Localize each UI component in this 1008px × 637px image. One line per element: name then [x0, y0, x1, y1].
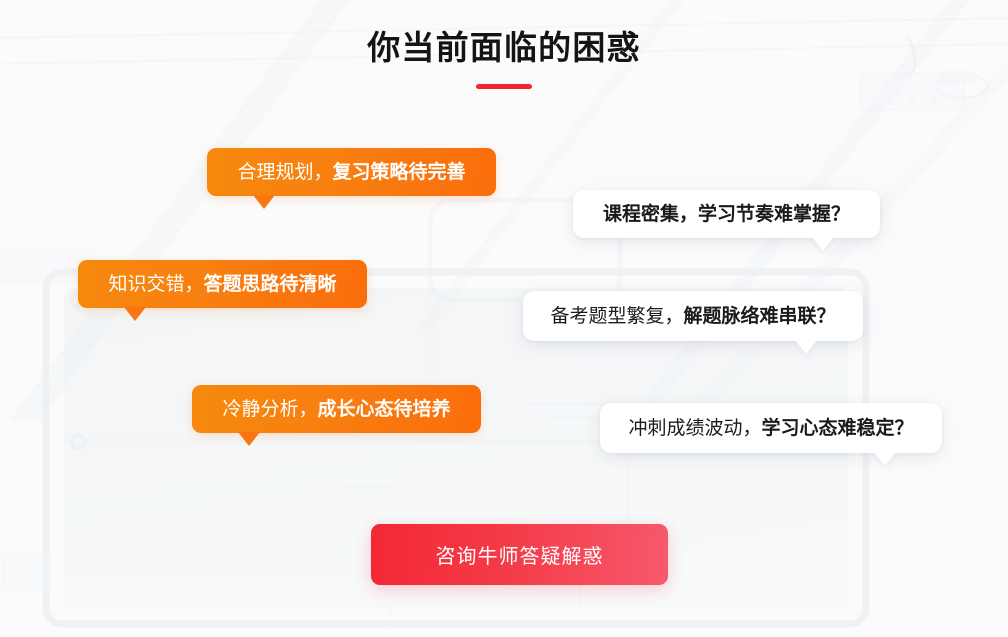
bubble-tail-icon [253, 195, 275, 209]
bubble-text-emphasis: 学习心态难稳定？ [762, 418, 914, 439]
bubble-text-lead: 备考题型繁复， [550, 306, 683, 327]
bubble-tail-icon [124, 307, 146, 321]
bubble-text-lead: 冲刺成绩波动， [628, 418, 761, 439]
bubble-text: 合理规划，复习策略待完善 [237, 163, 465, 182]
bubble-text: 冷静分析，成长心态待培养 [222, 400, 450, 419]
bubble-text: 冲刺成绩波动，学习心态难稳定？ [628, 419, 913, 438]
section-header: 你当前面临的困惑 [0, 26, 1008, 89]
title-underline-accent [476, 84, 532, 89]
bubble-text: 知识交错，答题思路待清晰 [108, 275, 336, 294]
pain-point-bubble-orange-3[interactable]: 冷静分析，成长心态待培养 [192, 385, 481, 433]
pain-point-bubble-white-3[interactable]: 冲刺成绩波动，学习心态难稳定？ [600, 403, 942, 453]
bubble-text-emphasis: 解题脉络难串联？ [684, 306, 836, 327]
bubble-text-emphasis: 学习节奏难掌握？ [698, 204, 850, 225]
bubble-tail-icon [238, 432, 260, 446]
pain-point-bubble-white-2[interactable]: 备考题型繁复，解题脉络难串联？ [523, 291, 863, 341]
bubble-text-emphasis: 答题思路待清晰 [204, 274, 337, 295]
bubble-text-emphasis: 成长心态待培养 [318, 399, 451, 420]
bubble-text-lead: 课程密集， [603, 204, 698, 225]
section-pain-points: 你当前面临的困惑 合理规划，复习策略待完善 知识交错，答题思路待清晰 冷静分析，… [0, 0, 1008, 637]
page-title: 你当前面临的困惑 [0, 26, 1008, 70]
bubble-text-lead: 冷静分析， [222, 399, 317, 420]
bubble-text: 课程密集，学习节奏难掌握？ [603, 205, 850, 224]
bubble-text-emphasis: 复习策略待完善 [333, 162, 466, 183]
bubble-tail-icon [874, 452, 896, 466]
bubble-text-lead: 知识交错， [108, 274, 203, 295]
bubble-text-lead: 合理规划， [237, 162, 332, 183]
bubble-text: 备考题型繁复，解题脉络难串联？ [550, 307, 835, 326]
consult-teacher-cta-button[interactable]: 咨询牛师答疑解惑 [371, 524, 668, 585]
pain-point-bubble-orange-1[interactable]: 合理规划，复习策略待完善 [207, 148, 496, 196]
bubble-tail-icon [812, 237, 834, 251]
bubble-tail-icon [795, 340, 817, 354]
pain-point-bubble-orange-2[interactable]: 知识交错，答题思路待清晰 [78, 260, 367, 308]
pain-point-bubble-white-1[interactable]: 课程密集，学习节奏难掌握？ [573, 190, 880, 238]
